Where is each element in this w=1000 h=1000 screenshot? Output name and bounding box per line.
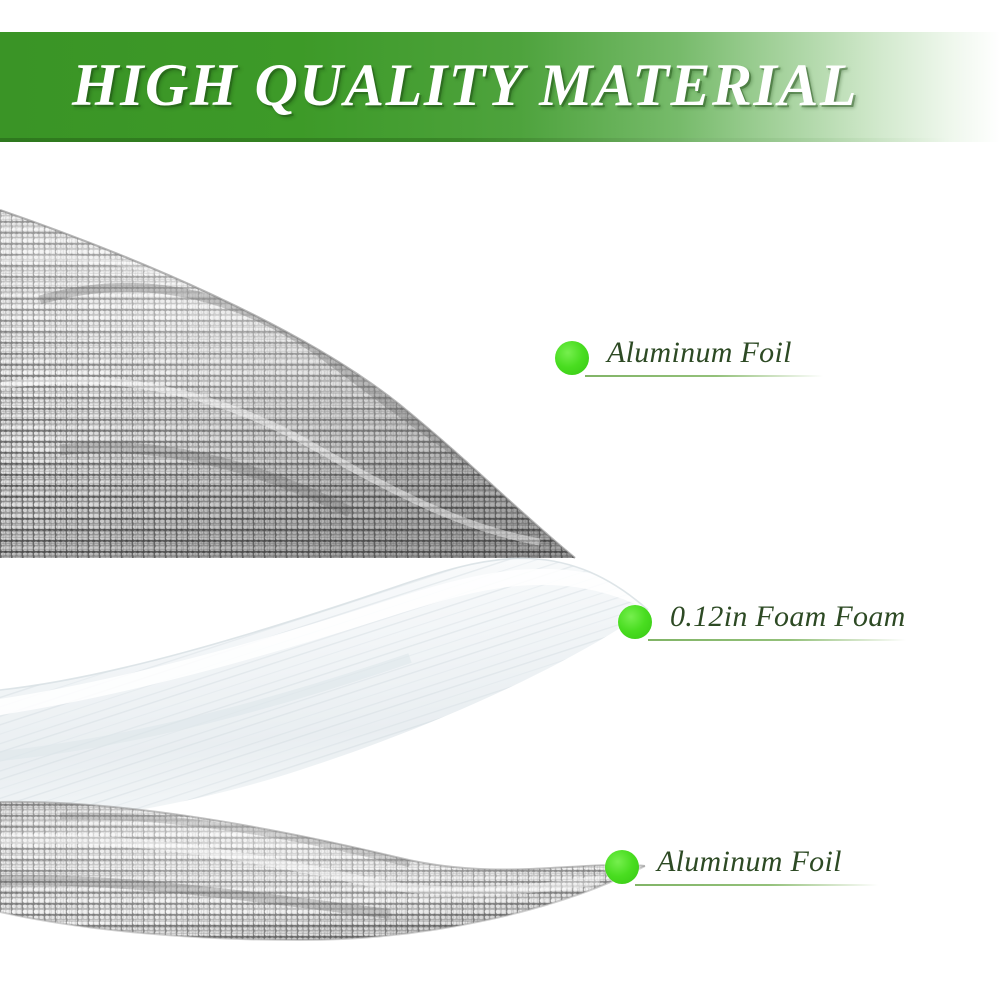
callout-marker-dot-icon [618, 605, 652, 639]
material-cross-section [0, 150, 1000, 1000]
layer-aluminum-foil-top [0, 150, 1000, 620]
product-infographic: HIGH QUALITY MATERIAL [0, 0, 1000, 1000]
callout-leader-line [585, 375, 823, 377]
callout-leader-line [648, 639, 906, 641]
material-layers-illustration [0, 150, 1000, 1000]
callout-marker-dot-icon [555, 341, 589, 375]
callout-label: 0.12in Foam Foam [670, 599, 906, 635]
header-banner: HIGH QUALITY MATERIAL [0, 32, 1000, 142]
callout-label: Aluminum Foil [607, 335, 792, 371]
callout-label: Aluminum Foil [657, 844, 842, 880]
callout-marker-dot-icon [605, 850, 639, 884]
callout-leader-line [635, 884, 878, 886]
page-title: HIGH QUALITY MATERIAL [0, 51, 1000, 120]
